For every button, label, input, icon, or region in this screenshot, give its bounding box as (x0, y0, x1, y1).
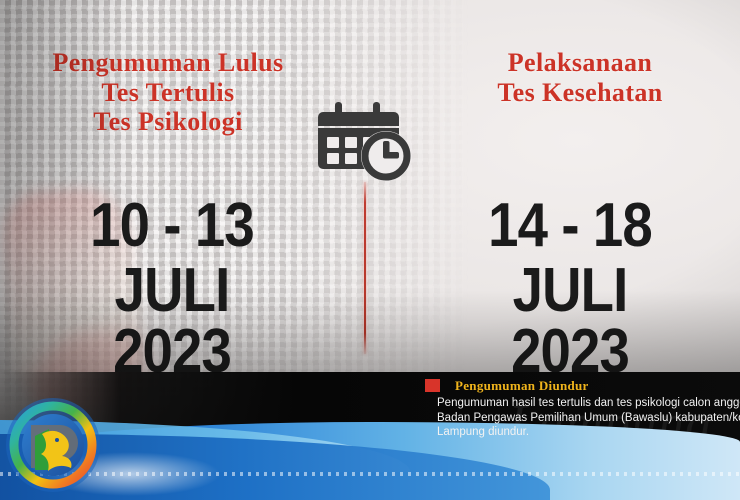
caption-headline-text: Pengumuman Diundur (455, 378, 589, 393)
vertical-divider (364, 182, 366, 354)
right-title-line-2: Tes Kesehatan (420, 78, 740, 108)
right-panel-title: Pelaksanaan Tes Kesehatan (420, 48, 740, 107)
right-title-line-1: Pelaksanaan (420, 48, 740, 78)
right-date-month: JULI 2023 (447, 261, 693, 383)
left-title-line-2: Tes Tertulis (8, 78, 328, 108)
right-date-range: 14 - 18 (447, 196, 693, 257)
left-date-month: JULI 2023 (49, 261, 295, 383)
left-panel-date: 10 - 13 JULI 2023 (49, 196, 295, 382)
red-square-marker-icon (425, 379, 440, 392)
left-title-line-1: Pengumuman Lulus (8, 48, 328, 78)
left-panel-title: Pengumuman Lulus Tes Tertulis Tes Psikol… (8, 48, 328, 137)
broadcast-graphic: Pengumuman Lulus Tes Tertulis Tes Psikol… (0, 0, 740, 500)
left-title-line-3: Tes Psikologi (8, 107, 328, 137)
caption-body-text: Pengumuman hasil tes tertulis dan tes ps… (437, 396, 737, 440)
left-date-range: 10 - 13 (49, 196, 295, 257)
station-logo (4, 396, 102, 494)
calendar-clock-icon (318, 100, 414, 182)
caption-headline-row: Pengumuman Diundur (455, 378, 737, 394)
right-panel-date: 14 - 18 JULI 2023 (447, 196, 693, 382)
caption-block: Pengumuman Diundur Pengumuman hasil tes … (437, 378, 737, 440)
